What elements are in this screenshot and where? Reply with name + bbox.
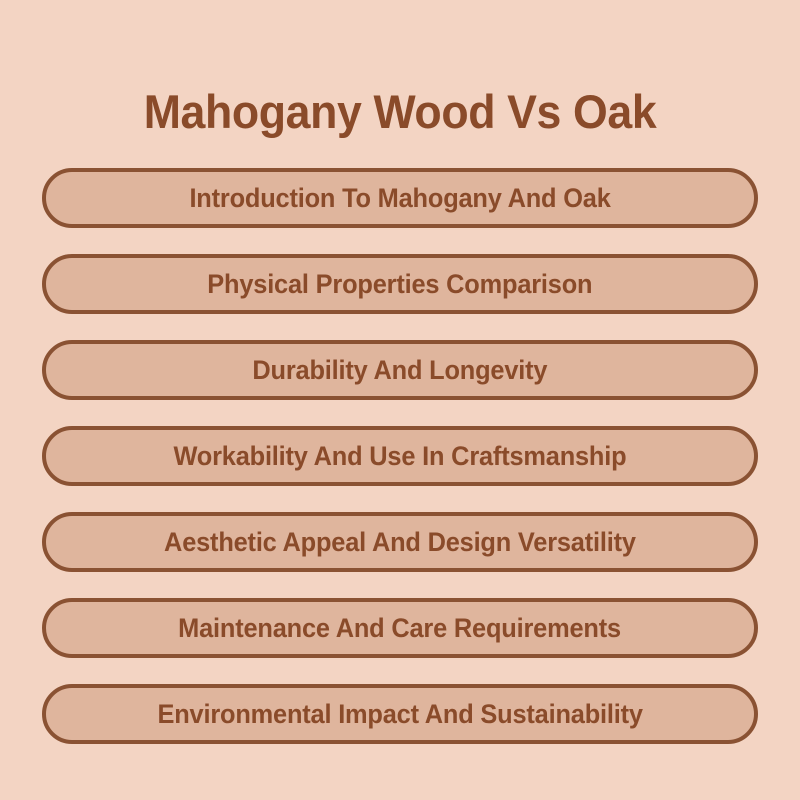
- list-item-aesthetic-appeal-and-design-versatility[interactable]: Aesthetic Appeal And Design Versatility: [42, 512, 758, 572]
- list-item-environmental-impact-and-sustainability[interactable]: Environmental Impact And Sustainability: [42, 684, 758, 744]
- topic-list: Introduction To Mahogany And Oak Physica…: [42, 168, 758, 744]
- list-item-label: Physical Properties Comparison: [207, 269, 592, 299]
- list-item-workability-and-use-in-craftsmanship[interactable]: Workability And Use In Craftsmanship: [42, 426, 758, 486]
- list-item-label: Environmental Impact And Sustainability: [157, 699, 642, 729]
- list-item-label: Maintenance And Care Requirements: [179, 613, 622, 643]
- list-item-label: Aesthetic Appeal And Design Versatility: [164, 527, 636, 557]
- list-item-physical-properties-comparison[interactable]: Physical Properties Comparison: [42, 254, 758, 314]
- list-item-label: Introduction To Mahogany And Oak: [189, 183, 610, 213]
- list-item-durability-and-longevity[interactable]: Durability And Longevity: [42, 340, 758, 400]
- infographic-canvas: Mahogany Wood Vs Oak Introduction To Mah…: [0, 0, 800, 800]
- list-item-label: Durability And Longevity: [253, 355, 548, 385]
- list-item-label: Workability And Use In Craftsmanship: [174, 441, 627, 471]
- list-item-maintenance-and-care-requirements[interactable]: Maintenance And Care Requirements: [42, 598, 758, 658]
- list-item-introduction-to-mahogany-and-oak[interactable]: Introduction To Mahogany And Oak: [42, 168, 758, 228]
- page-title: Mahogany Wood Vs Oak: [20, 81, 780, 143]
